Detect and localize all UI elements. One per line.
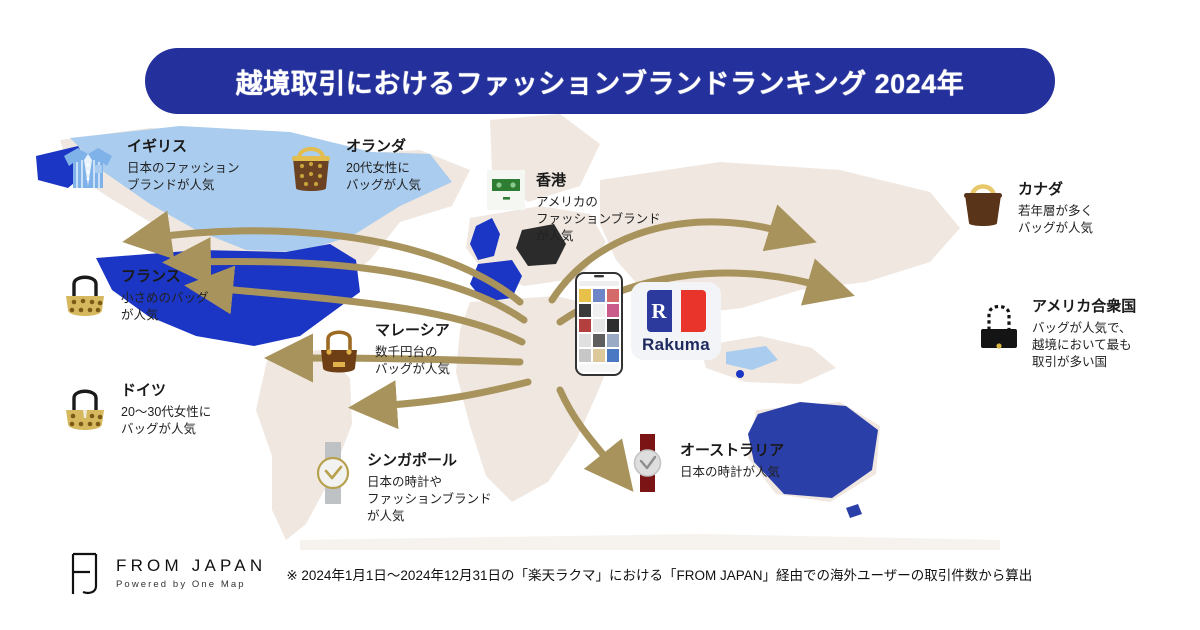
rakuma-blue-panel: R	[647, 290, 672, 332]
label-description: アメリカの ファッションブランド が人気	[536, 194, 661, 246]
label-australia: オーストラリア 日本の時計が人気	[625, 432, 784, 494]
label-france: フランス 小さめのバッグ が人気	[58, 268, 209, 324]
label-country-name: シンガポール	[367, 452, 492, 471]
label-description: 日本の時計が人気	[680, 464, 784, 481]
label-country-name: ドイツ	[121, 382, 211, 401]
label-description: 若年層が多く バッグが人気	[1018, 203, 1093, 238]
black-handbag-icon	[975, 298, 1023, 358]
center-brand-group: R Rakuma	[575, 272, 721, 376]
striped-shirt-icon	[58, 138, 118, 198]
infographic-root: 越境取引におけるファッションブランドランキング 2024年 R	[0, 0, 1200, 630]
label-description: 日本の時計や ファッションブランド が人気	[367, 474, 492, 526]
label-country-name: オーストラリア	[680, 442, 784, 461]
label-country-name: イギリス	[127, 138, 240, 157]
label-description: 小さめのバッグ が人気	[121, 290, 209, 325]
label-description: 20代女性に バッグが人気	[346, 160, 421, 195]
label-description: 20〜30代女性に バッグが人気	[121, 404, 211, 439]
brown-tote-bag-icon	[957, 175, 1009, 231]
map-country-tasmania	[846, 504, 862, 518]
red-strap-watch-icon	[625, 432, 671, 494]
footer: FROM JAPAN Powered by One Map ※ 2024年1月1…	[70, 552, 1032, 596]
monogram-bucket-bag-icon	[285, 138, 337, 196]
label-singapore: シンガポール 日本の時計や ファッションブランド が人気	[308, 440, 492, 526]
from-japan-logo: FROM JAPAN Powered by One Map	[70, 552, 266, 596]
smartphone-app-grid-icon	[575, 272, 623, 376]
label-country-name: フランス	[121, 268, 209, 287]
brown-handbag-icon	[312, 322, 366, 378]
brand-tagline: Powered by One Map	[116, 580, 266, 590]
label-country-name: カナダ	[1018, 181, 1093, 200]
brand-name: FROM JAPAN	[116, 557, 266, 576]
page-title-bar: 越境取引におけるファッションブランドランキング 2024年	[145, 48, 1055, 114]
rakuma-mark-letter: R	[651, 301, 666, 322]
label-canada: カナダ 若年層が多く バッグが人気	[957, 175, 1093, 237]
page-title: 越境取引におけるファッションブランドランキング 2024年	[236, 62, 964, 101]
label-description: 数千円台の バッグが人気	[375, 344, 450, 379]
footnote-text: ※ 2024年1月1日〜2024年12月31日の「楽天ラクマ」における「FROM…	[286, 564, 1032, 584]
label-country-name: マレーシア	[375, 322, 450, 341]
money-icon	[485, 168, 527, 212]
label-netherlands: オランダ 20代女性に バッグが人気	[285, 138, 421, 196]
label-country-name: 香港	[536, 172, 661, 191]
rakuma-mark: R	[647, 289, 706, 333]
label-hongkong: 香港 アメリカの ファッションブランド が人気	[485, 168, 661, 246]
rakuma-wordmark: Rakuma	[642, 335, 710, 355]
label-description: 日本のファッション ブランドが人気	[127, 160, 240, 195]
label-malaysia: マレーシア 数千円台の バッグが人気	[312, 322, 450, 378]
map-country-singapore	[736, 370, 744, 378]
dotted-handbag-icon	[58, 268, 112, 324]
label-uk: イギリス 日本のファッション ブランドが人気	[58, 138, 240, 198]
label-country-name: アメリカ合衆国	[1032, 298, 1136, 317]
silver-watch-icon	[308, 440, 358, 506]
dotted-handbag-icon	[58, 382, 112, 438]
label-germany: ドイツ 20〜30代女性に バッグが人気	[58, 382, 211, 438]
label-usa: アメリカ合衆国 バッグが人気で、 越境において最も 取引が多い国	[975, 298, 1136, 372]
label-country-name: オランダ	[346, 138, 421, 157]
rakuma-red-panel	[681, 290, 706, 332]
rakuma-logo: R Rakuma	[631, 282, 721, 360]
label-description: バッグが人気で、 越境において最も 取引が多い国	[1032, 320, 1136, 372]
fj-monogram-icon	[70, 552, 104, 596]
